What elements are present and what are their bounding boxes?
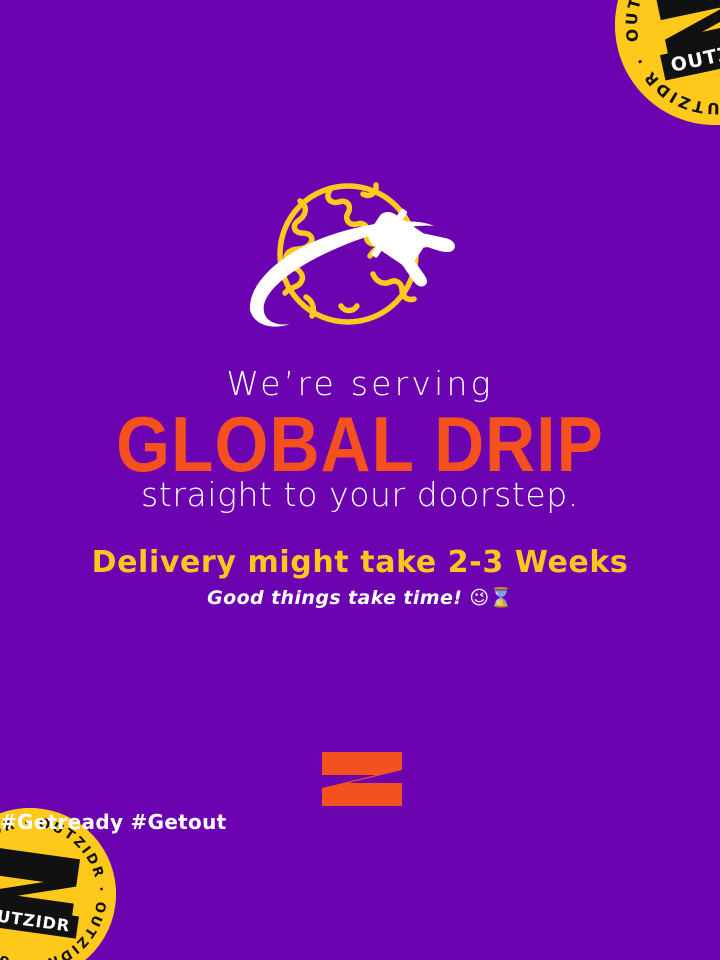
outzidr-badge-top-right: OUTZIDR · OUTZIDR · OUTZIDR · OUTZIDR · …: [596, 0, 720, 144]
reassurance-note: Good things take time! 😉⌛: [0, 589, 720, 608]
promo-poster: OUTZIDR · OUTZIDR · OUTZIDR · OUTZIDR · …: [0, 0, 720, 960]
subtitle-text: straight to your doorstep.: [0, 478, 720, 511]
delivery-notice: Delivery might take 2-3 Weeks: [0, 548, 720, 578]
z-logo: [318, 750, 406, 808]
wink-and-hourglass-emoji: 😉⌛: [469, 587, 512, 609]
hashtags-text: #Getready #Getout: [0, 812, 720, 832]
eyebrow-text: We’re serving: [0, 367, 720, 400]
reassurance-text: Good things take time!: [207, 587, 462, 609]
globe-with-airplane-icon: [238, 178, 482, 338]
page-title: GLOBAL DRIP: [0, 405, 720, 483]
